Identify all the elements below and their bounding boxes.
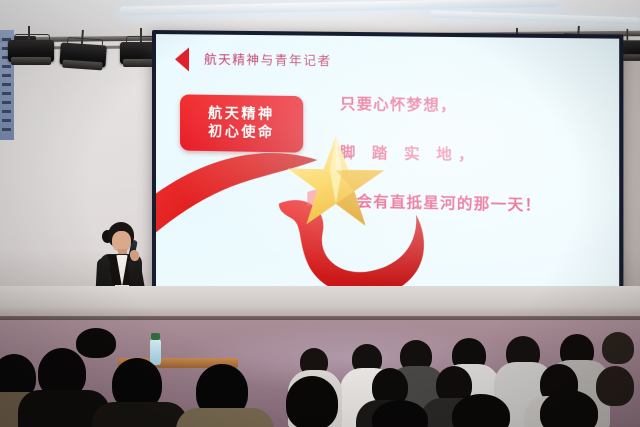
projection-screen: 航天精神与青年记者 航天精神 初心使命 只要心怀梦想， 脚 踏 实 地， 终会有… [152,30,623,305]
red-ribbon-icon [156,123,462,299]
photo-scene: 航天精神与青年记者 航天精神 初心使命 只要心怀梦想， 脚 踏 实 地， 终会有… [0,0,640,427]
stage-spotlight-icon [8,38,54,68]
audience [0,320,640,427]
badge-line-1: 航天精神 [208,106,275,123]
poem-line-1: 只要心怀梦想， [340,93,600,118]
audience-body [176,408,274,427]
audience-head [286,376,338,427]
chevron-left-icon[interactable] [172,46,192,72]
audience-head [602,332,634,364]
slide-header-title: 航天精神与青年记者 [204,49,332,70]
audience-head [596,366,634,406]
audience-body [92,402,188,427]
audience-head [76,328,116,358]
stage-spotlight-icon [59,40,107,73]
slide-surface: 航天精神与青年记者 航天精神 初心使命 只要心怀梦想， 脚 踏 实 地， 终会有… [156,34,619,299]
